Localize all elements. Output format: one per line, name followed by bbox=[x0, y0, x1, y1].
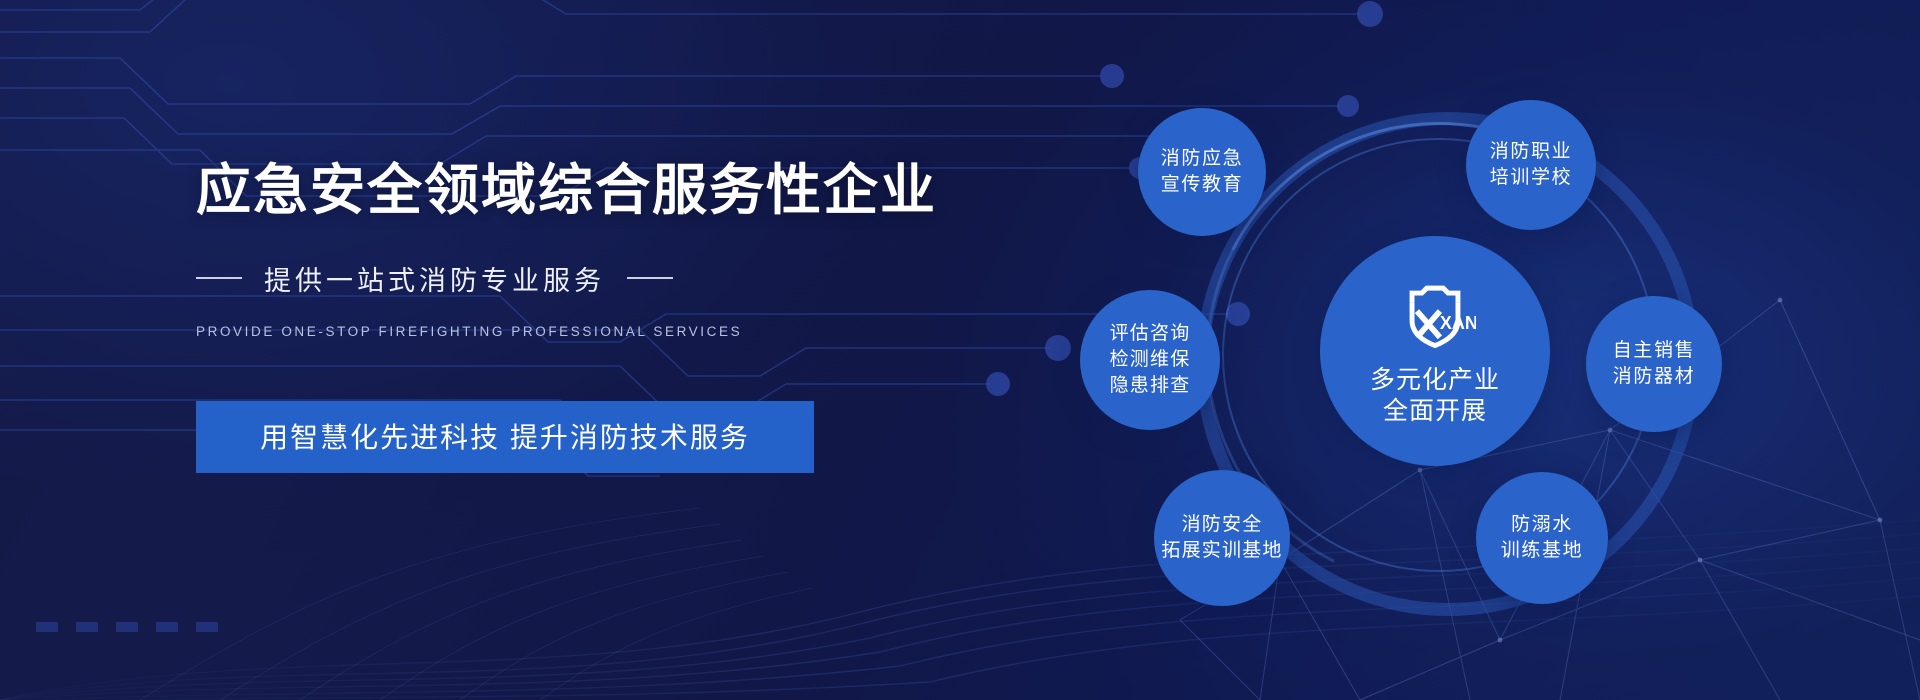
node-line-2: 消防器材 bbox=[1613, 364, 1695, 390]
page-title: 应急安全领域综合服务性企业 bbox=[196, 160, 976, 221]
node-line-1: 消防职业 bbox=[1490, 139, 1572, 165]
shield-logo-icon: XAN bbox=[1394, 275, 1476, 357]
subtitle: 提供一站式消防专业服务 bbox=[264, 259, 605, 298]
diagram-node-equipment-sales[interactable]: 自主销售 消防器材 bbox=[1586, 296, 1722, 432]
subtitle-row: 提供一站式消防专业服务 bbox=[196, 259, 976, 298]
center-label-line1: 多元化产业 bbox=[1370, 365, 1500, 397]
node-line-2: 宣传教育 bbox=[1161, 172, 1243, 198]
english-tagline: PROVIDE ONE-STOP FIREFIGHTING PROFESSION… bbox=[196, 324, 976, 339]
node-line-1: 防溺水 bbox=[1511, 512, 1573, 538]
node-line-2: 拓展实训基地 bbox=[1161, 538, 1282, 564]
node-line-2: 培训学校 bbox=[1490, 165, 1572, 191]
node-line-1: 自主销售 bbox=[1613, 338, 1695, 364]
center-label-line2: 全面开展 bbox=[1383, 396, 1487, 428]
rule-left-icon bbox=[196, 277, 242, 279]
diagram-node-vocational-training-school[interactable]: 消防职业 培训学校 bbox=[1466, 100, 1596, 230]
center-logo-text: XAN bbox=[1440, 313, 1476, 333]
diagram-node-safety-training-base[interactable]: 消防安全 拓展实训基地 bbox=[1154, 470, 1290, 606]
node-line-2: 训练基地 bbox=[1501, 538, 1583, 564]
node-line-1: 消防应急 bbox=[1161, 146, 1243, 172]
hero-copy-block: 应急安全领域综合服务性企业 提供一站式消防专业服务 PROVIDE ONE-ST… bbox=[196, 160, 976, 473]
node-line-3: 隐患排查 bbox=[1110, 373, 1191, 399]
diagram-center-node[interactable]: XAN 多元化产业 全面开展 bbox=[1320, 236, 1550, 466]
rule-right-icon bbox=[627, 277, 673, 279]
node-line-2: 检测维保 bbox=[1110, 347, 1191, 373]
diagram-node-fire-emergency-education[interactable]: 消防应急 宣传教育 bbox=[1138, 108, 1266, 236]
node-line-1: 消防安全 bbox=[1182, 512, 1263, 538]
diagram-node-drowning-prevention-base[interactable]: 防溺水 训练基地 bbox=[1476, 472, 1608, 604]
cta-label: 用智慧化先进科技 提升消防技术服务 bbox=[260, 416, 750, 456]
hero-banner: 应急安全领域综合服务性企业 提供一站式消防专业服务 PROVIDE ONE-ST… bbox=[0, 0, 1920, 700]
cta-banner-button[interactable]: 用智慧化先进科技 提升消防技术服务 bbox=[196, 401, 814, 473]
diagram-node-assessment-inspection[interactable]: 评估咨询 检测维保 隐患排查 bbox=[1080, 290, 1220, 430]
node-line-1: 评估咨询 bbox=[1110, 321, 1191, 347]
services-circle-diagram: XAN 多元化产业 全面开展 消防应急 宣传教育 消防职业 培训学校 评估咨询 … bbox=[1118, 78, 1778, 618]
